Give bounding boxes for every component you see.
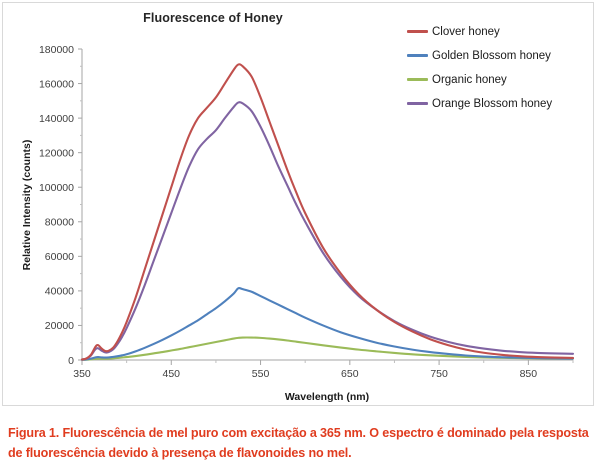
x-axis-tick-label: 750 bbox=[430, 368, 448, 380]
figure-caption: Figura 1. Fluorescência de mel puro com … bbox=[8, 424, 596, 463]
y-axis-tick-label: 140000 bbox=[39, 113, 74, 125]
x-axis-tick-label: 350 bbox=[73, 368, 91, 380]
y-axis-tick-label: 100000 bbox=[39, 182, 74, 194]
x-axis-tick-label: 850 bbox=[520, 368, 538, 380]
y-axis-tick-label: 40000 bbox=[45, 286, 74, 298]
chart-card: Fluorescence of Honey Clover honeyGolden… bbox=[2, 2, 594, 406]
y-axis-tick-label: 60000 bbox=[45, 251, 74, 263]
y-axis-tick-label: 180000 bbox=[39, 44, 74, 56]
series-line bbox=[82, 64, 573, 359]
y-axis-tick-label: 80000 bbox=[45, 217, 74, 229]
x-axis-tick-label: 650 bbox=[341, 368, 359, 380]
x-axis-tick-label: 450 bbox=[163, 368, 181, 380]
axis-lines bbox=[82, 49, 573, 360]
y-axis-tick-label: 120000 bbox=[39, 147, 74, 159]
fluorescence-line-chart: 0200004000060000800001000001200001400001… bbox=[3, 3, 595, 407]
y-axis-tick-label: 0 bbox=[68, 355, 74, 367]
x-axis-title: Wavelength (nm) bbox=[81, 391, 573, 403]
plot-area: 0200004000060000800001000001200001400001… bbox=[3, 3, 595, 407]
series-line bbox=[82, 102, 573, 359]
series-line bbox=[82, 288, 573, 360]
y-axis-title: Relative Intensity (counts) bbox=[21, 115, 33, 295]
x-axis-tick-label: 550 bbox=[252, 368, 270, 380]
screenshot-root: Fluorescence of Honey Clover honeyGolden… bbox=[0, 0, 600, 470]
y-axis-tick-label: 160000 bbox=[39, 78, 74, 90]
y-axis-tick-label: 20000 bbox=[45, 320, 74, 332]
